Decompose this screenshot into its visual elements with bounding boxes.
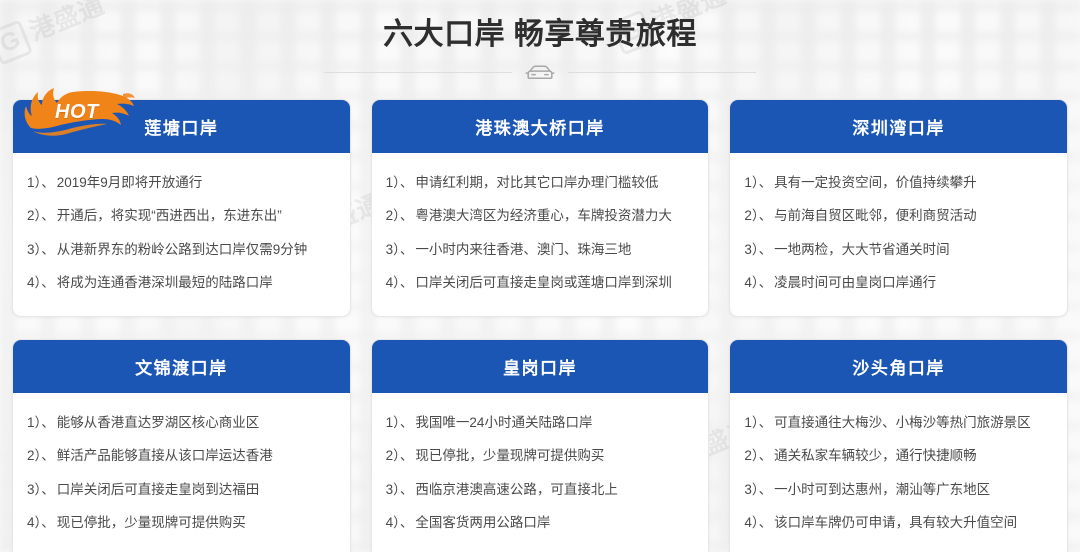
divider-line-right [568,72,756,73]
list-item-text: 申请红利期，对比其它口岸办理门槛较低 [415,173,694,193]
port-card[interactable]: HOT 莲塘口岸 1）、 2019年9月即将开放通行 2）、 开通后，将实现“西… [12,99,351,317]
list-item: 1）、 申请红利期，对比其它口岸办理门槛较低 [386,167,695,200]
list-item-text: 从港新界东的粉岭公路到达口岸仅需9分钟 [57,240,336,260]
port-card[interactable]: 深圳湾口岸 1）、 具有一定投资空间，价值持续攀升 2）、 与前海自贸区毗邻，便… [729,99,1068,317]
list-item-index: 1）、 [27,173,55,193]
list-item-index: 3）、 [744,240,772,260]
list-item: 3）、 一小时内来往香港、澳门、珠海三地 [386,233,695,266]
list-item: 2）、 鲜活产品能够直接从该口岸运达香港 [27,440,336,473]
list-item: 2）、 现已停批，少量现牌可提供购买 [386,440,695,473]
list-item-index: 4）、 [27,513,55,533]
list-item-index: 4）、 [27,273,55,293]
list-item-text: 与前海自贸区毗邻，便利商贸活动 [774,206,1053,226]
list-item-index: 2）、 [27,446,55,466]
page-title: 六大口岸 畅享尊贵旅程 [12,16,1068,54]
port-card[interactable]: 文锦渡口岸 1）、 能够从香港直达罗湖区核心商业区 2）、 鲜活产品能够直接从该… [12,339,351,552]
port-card-title: 深圳湾口岸 [852,114,945,139]
list-item-text: 2019年9月即将开放通行 [57,173,336,193]
list-item-index: 2）、 [386,206,414,226]
list-item-text: 将成为连通香港深圳最短的陆路口岸 [57,273,336,293]
list-item: 1）、 能够从香港直达罗湖区核心商业区 [27,407,336,440]
list-item: 3）、 西临京港澳高速公路，可直接北上 [386,473,695,506]
port-card[interactable]: 港珠澳大桥口岸 1）、 申请红利期，对比其它口岸办理门槛较低 2）、 粤港澳大湾… [371,99,710,317]
port-card-header: HOT 莲塘口岸 [13,100,350,153]
list-item-text: 口岸关闭后可直接走皇岗或莲塘口岸到深圳 [415,273,694,293]
port-card-title: 文锦渡口岸 [135,354,228,379]
port-card-body: 1）、 具有一定投资空间，价值持续攀升 2）、 与前海自贸区毗邻，便利商贸活动 … [730,153,1067,316]
list-item: 4）、 现已停批，少量现牌可提供购买 [27,506,336,539]
port-card-title: 沙头角口岸 [852,354,945,379]
title-block: 六大口岸 畅享尊贵旅程 [12,0,1068,83]
list-item-text: 具有一定投资空间，价值持续攀升 [774,173,1053,193]
list-item-text: 能够从香港直达罗湖区核心商业区 [57,413,336,433]
port-card-header: 深圳湾口岸 [730,100,1067,153]
list-item-index: 3）、 [27,480,55,500]
list-item: 3）、 口岸关闭后可直接走皇岗到达福田 [27,473,336,506]
list-item-text: 鲜活产品能够直接从该口岸运达香港 [57,446,336,466]
list-item: 3）、 一小时可到达惠州，潮汕等广东地区 [744,473,1053,506]
list-item-text: 该口岸车牌仍可申请，具有较大升值空间 [774,513,1053,533]
list-item-index: 3）、 [27,240,55,260]
port-card-grid: HOT 莲塘口岸 1）、 2019年9月即将开放通行 2）、 开通后，将实现“西… [12,99,1068,552]
list-item-index: 4）、 [744,273,772,293]
list-item: 2）、 与前海自贸区毗邻，便利商贸活动 [744,200,1053,233]
list-item: 4）、 凌晨时间可由皇岗口岸通行 [744,266,1053,299]
list-item-index: 2）、 [744,446,772,466]
list-item: 4）、 全国客货两用公路口岸 [386,506,695,539]
list-item-text: 一小时可到达惠州，潮汕等广东地区 [774,480,1053,500]
list-item-text: 一小时内来往香港、澳门、珠海三地 [415,240,694,260]
port-card[interactable]: 皇岗口岸 1）、 我国唯一24小时通关陆路口岸 2）、 现已停批，少量现牌可提供… [371,339,710,552]
port-card[interactable]: 沙头角口岸 1）、 可直接通往大梅沙、小梅沙等热门旅游景区 2）、 通关私家车辆… [729,339,1068,552]
list-item-index: 4）、 [386,513,414,533]
title-divider [12,63,1068,83]
list-item-index: 1）、 [386,413,414,433]
list-item-text: 粤港澳大湾区为经济重心，车牌投资潜力大 [415,206,694,226]
page-root: 六大口岸 畅享尊贵旅程 [0,0,1080,552]
list-item: 1）、 我国唯一24小时通关陆路口岸 [386,407,695,440]
list-item: 1）、 可直接通往大梅沙、小梅沙等热门旅游景区 [744,407,1053,440]
list-item-index: 1）、 [386,173,414,193]
list-item: 4）、 该口岸车牌仍可申请，具有较大升值空间 [744,506,1053,539]
list-item-text: 全国客货两用公路口岸 [415,513,694,533]
port-card-body: 1）、 2019年9月即将开放通行 2）、 开通后，将实现“西进西出，东进东出”… [13,153,350,316]
list-item-index: 3）、 [744,480,772,500]
list-item-text: 现已停批，少量现牌可提供购买 [415,446,694,466]
port-card-header: 沙头角口岸 [730,340,1067,393]
port-card-title: 莲塘口岸 [144,114,218,139]
list-item-text: 凌晨时间可由皇岗口岸通行 [774,273,1053,293]
port-card-header: 港珠澳大桥口岸 [372,100,709,153]
divider-line-left [324,72,512,73]
hot-flame-badge: HOT [19,88,135,140]
list-item-text: 通关私家车辆较少，通行快捷顺畅 [774,446,1053,466]
list-item: 4）、 将成为连通香港深圳最短的陆路口岸 [27,266,336,299]
port-card-title: 港珠澳大桥口岸 [475,114,605,139]
list-item-index: 3）、 [386,480,414,500]
list-item-index: 2）、 [386,446,414,466]
list-item-index: 1）、 [744,173,772,193]
list-item: 2）、 通关私家车辆较少，通行快捷顺畅 [744,440,1053,473]
list-item-index: 1）、 [744,413,772,433]
list-item-index: 4）、 [386,273,414,293]
list-item-text: 西临京港澳高速公路，可直接北上 [415,480,694,500]
list-item: 1）、 2019年9月即将开放通行 [27,167,336,200]
list-item: 4）、 口岸关闭后可直接走皇岗或莲塘口岸到深圳 [386,266,695,299]
list-item-index: 2）、 [744,206,772,226]
port-card-body: 1）、 可直接通往大梅沙、小梅沙等热门旅游景区 2）、 通关私家车辆较少，通行快… [730,393,1067,552]
list-item-text: 一地两检，大大节省通关时间 [774,240,1053,260]
hot-badge-label: HOT [55,101,99,124]
list-item-text: 可直接通往大梅沙、小梅沙等热门旅游景区 [774,413,1053,433]
port-card-body: 1）、 申请红利期，对比其它口岸办理门槛较低 2）、 粤港澳大湾区为经济重心，车… [372,153,709,316]
list-item: 3）、 一地两检，大大节省通关时间 [744,233,1053,266]
list-item-index: 2）、 [27,206,55,226]
list-item-text: 现已停批，少量现牌可提供购买 [57,513,336,533]
port-card-header: 皇岗口岸 [372,340,709,393]
port-card-title: 皇岗口岸 [503,354,577,379]
list-item-index: 4）、 [744,513,772,533]
port-card-header: 文锦渡口岸 [13,340,350,393]
list-item: 1）、 具有一定投资空间，价值持续攀升 [744,167,1053,200]
list-item: 2）、 开通后，将实现“西进西出，东进东出” [27,200,336,233]
list-item-index: 3）、 [386,240,414,260]
list-item-text: 我国唯一24小时通关陆路口岸 [415,413,694,433]
car-icon [525,63,555,83]
list-item: 2）、 粤港澳大湾区为经济重心，车牌投资潜力大 [386,200,695,233]
list-item-text: 口岸关闭后可直接走皇岗到达福田 [57,480,336,500]
port-card-body: 1）、 我国唯一24小时通关陆路口岸 2）、 现已停批，少量现牌可提供购买 3）… [372,393,709,552]
list-item-index: 1）、 [27,413,55,433]
list-item: 3）、 从港新界东的粉岭公路到达口岸仅需9分钟 [27,233,336,266]
list-item-text: 开通后，将实现“西进西出，东进东出” [57,206,336,226]
port-card-body: 1）、 能够从香港直达罗湖区核心商业区 2）、 鲜活产品能够直接从该口岸运达香港… [13,393,350,552]
